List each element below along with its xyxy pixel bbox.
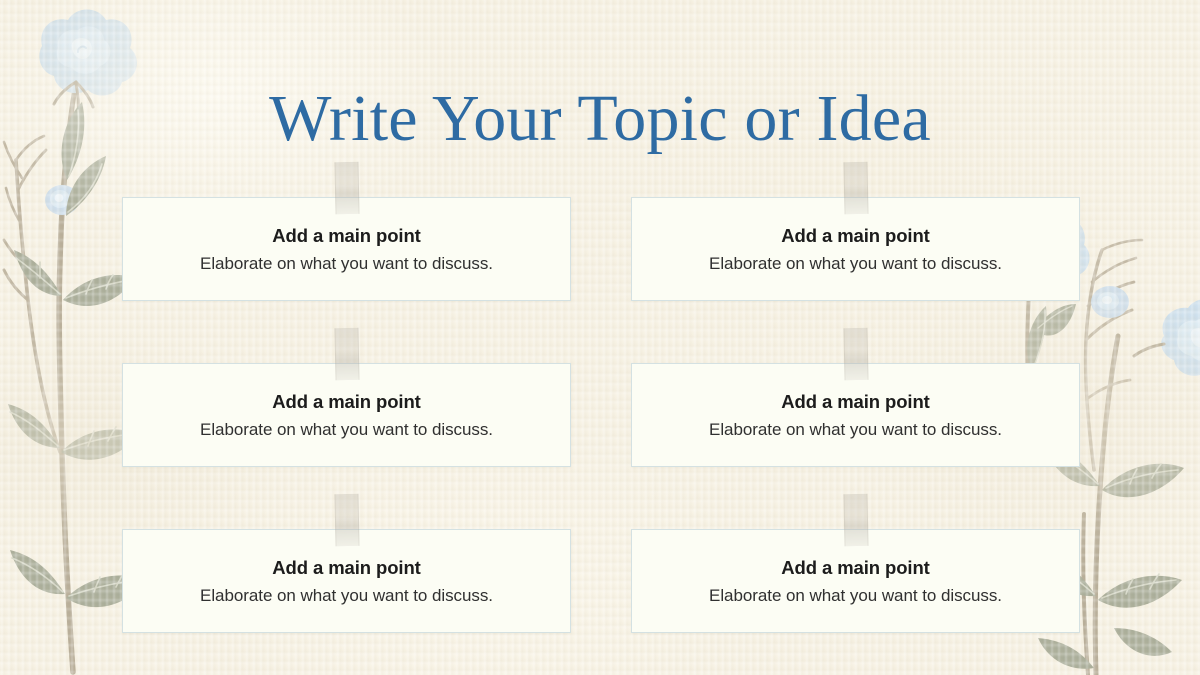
- card-body: Elaborate on what you want to discuss.: [709, 586, 1002, 606]
- card-body: Elaborate on what you want to discuss.: [200, 254, 493, 274]
- tape-strip-icon: [843, 162, 868, 214]
- tape-strip-icon: [843, 494, 868, 546]
- main-point-card-2[interactable]: Add a main point Elaborate on what you w…: [631, 197, 1080, 301]
- card-title: Add a main point: [272, 391, 420, 413]
- card-body: Elaborate on what you want to discuss.: [709, 254, 1002, 274]
- rose-large-right-2: [1161, 299, 1200, 378]
- rose-small-left: [45, 185, 79, 215]
- tape-strip-icon: [334, 328, 359, 380]
- card-title: Add a main point: [272, 557, 420, 579]
- card-title: Add a main point: [781, 557, 929, 579]
- main-point-card-6[interactable]: Add a main point Elaborate on what you w…: [631, 529, 1080, 633]
- rose-small-right: [1091, 286, 1129, 318]
- card-body: Elaborate on what you want to discuss.: [200, 586, 493, 606]
- main-point-card-1[interactable]: Add a main point Elaborate on what you w…: [122, 197, 571, 301]
- card-body: Elaborate on what you want to discuss.: [200, 420, 493, 440]
- slide-canvas: Write Your Topic or Idea Add a main poin…: [0, 0, 1200, 675]
- tape-strip-icon: [843, 328, 868, 380]
- card-title: Add a main point: [781, 391, 929, 413]
- card-title: Add a main point: [781, 225, 929, 247]
- main-point-card-5[interactable]: Add a main point Elaborate on what you w…: [122, 529, 571, 633]
- main-point-card-3[interactable]: Add a main point Elaborate on what you w…: [122, 363, 571, 467]
- page-title: Write Your Topic or Idea: [0, 82, 1200, 156]
- tape-strip-icon: [334, 494, 359, 546]
- card-body: Elaborate on what you want to discuss.: [709, 420, 1002, 440]
- main-point-grid: Add a main point Elaborate on what you w…: [122, 197, 1080, 633]
- tape-strip-icon: [334, 162, 359, 214]
- card-title: Add a main point: [272, 225, 420, 247]
- main-point-card-4[interactable]: Add a main point Elaborate on what you w…: [631, 363, 1080, 467]
